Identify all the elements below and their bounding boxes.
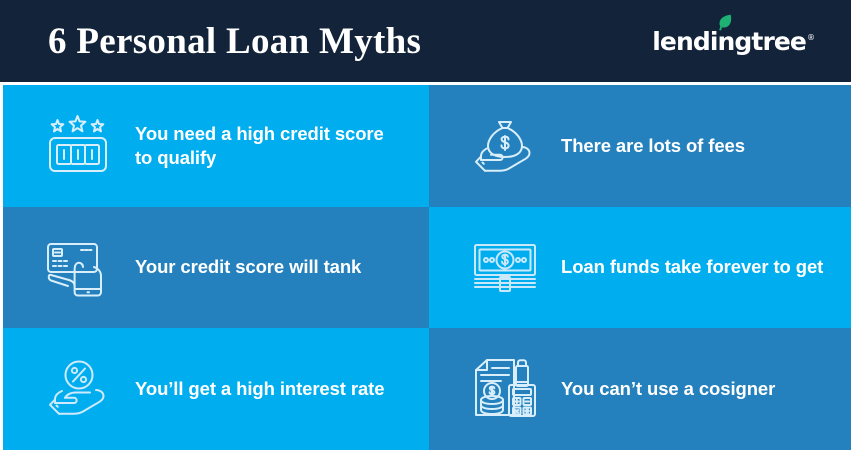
page-title: 6 Personal Loan Myths (48, 23, 421, 60)
myth-cell-6: You can’t use a cosigner (429, 328, 851, 450)
header-bar: 6 Personal Loan Myths lendingtree ® (0, 0, 851, 82)
document-calculator-icon (471, 355, 539, 423)
lendingtree-logo: lendingtree ® (652, 29, 821, 54)
infographic-root: 6 Personal Loan Myths lendingtree ® (0, 0, 851, 450)
credit-score-stars-icon (45, 112, 113, 180)
hand-percent-icon (45, 355, 113, 423)
myth-cell-4: Loan funds take forever to get (429, 207, 851, 329)
myth-cell-1: You need a high credit score to qualify (3, 85, 429, 207)
myth-cell-2: There are lots of fees (429, 85, 851, 207)
leaf-icon (715, 14, 732, 34)
myth-text-5: You’ll get a high interest rate (135, 377, 384, 401)
myth-text-2: There are lots of fees (561, 134, 745, 158)
myth-text-3: Your credit score will tank (135, 255, 361, 279)
myth-text-6: You can’t use a cosigner (561, 377, 775, 401)
myth-cell-3: Your credit score will tank (3, 207, 429, 329)
registered-trademark-mark: ® (807, 33, 815, 42)
myth-cell-5: You’ll get a high interest rate (3, 328, 429, 450)
myth-text-4: Loan funds take forever to get (561, 255, 823, 279)
hand-money-bag-icon (471, 112, 539, 180)
myth-text-1: You need a high credit score to qualify (135, 122, 405, 170)
cash-stack-icon (471, 233, 539, 301)
hand-credit-card-icon (45, 233, 113, 301)
myths-grid: You need a high credit score to qualify … (0, 82, 851, 450)
